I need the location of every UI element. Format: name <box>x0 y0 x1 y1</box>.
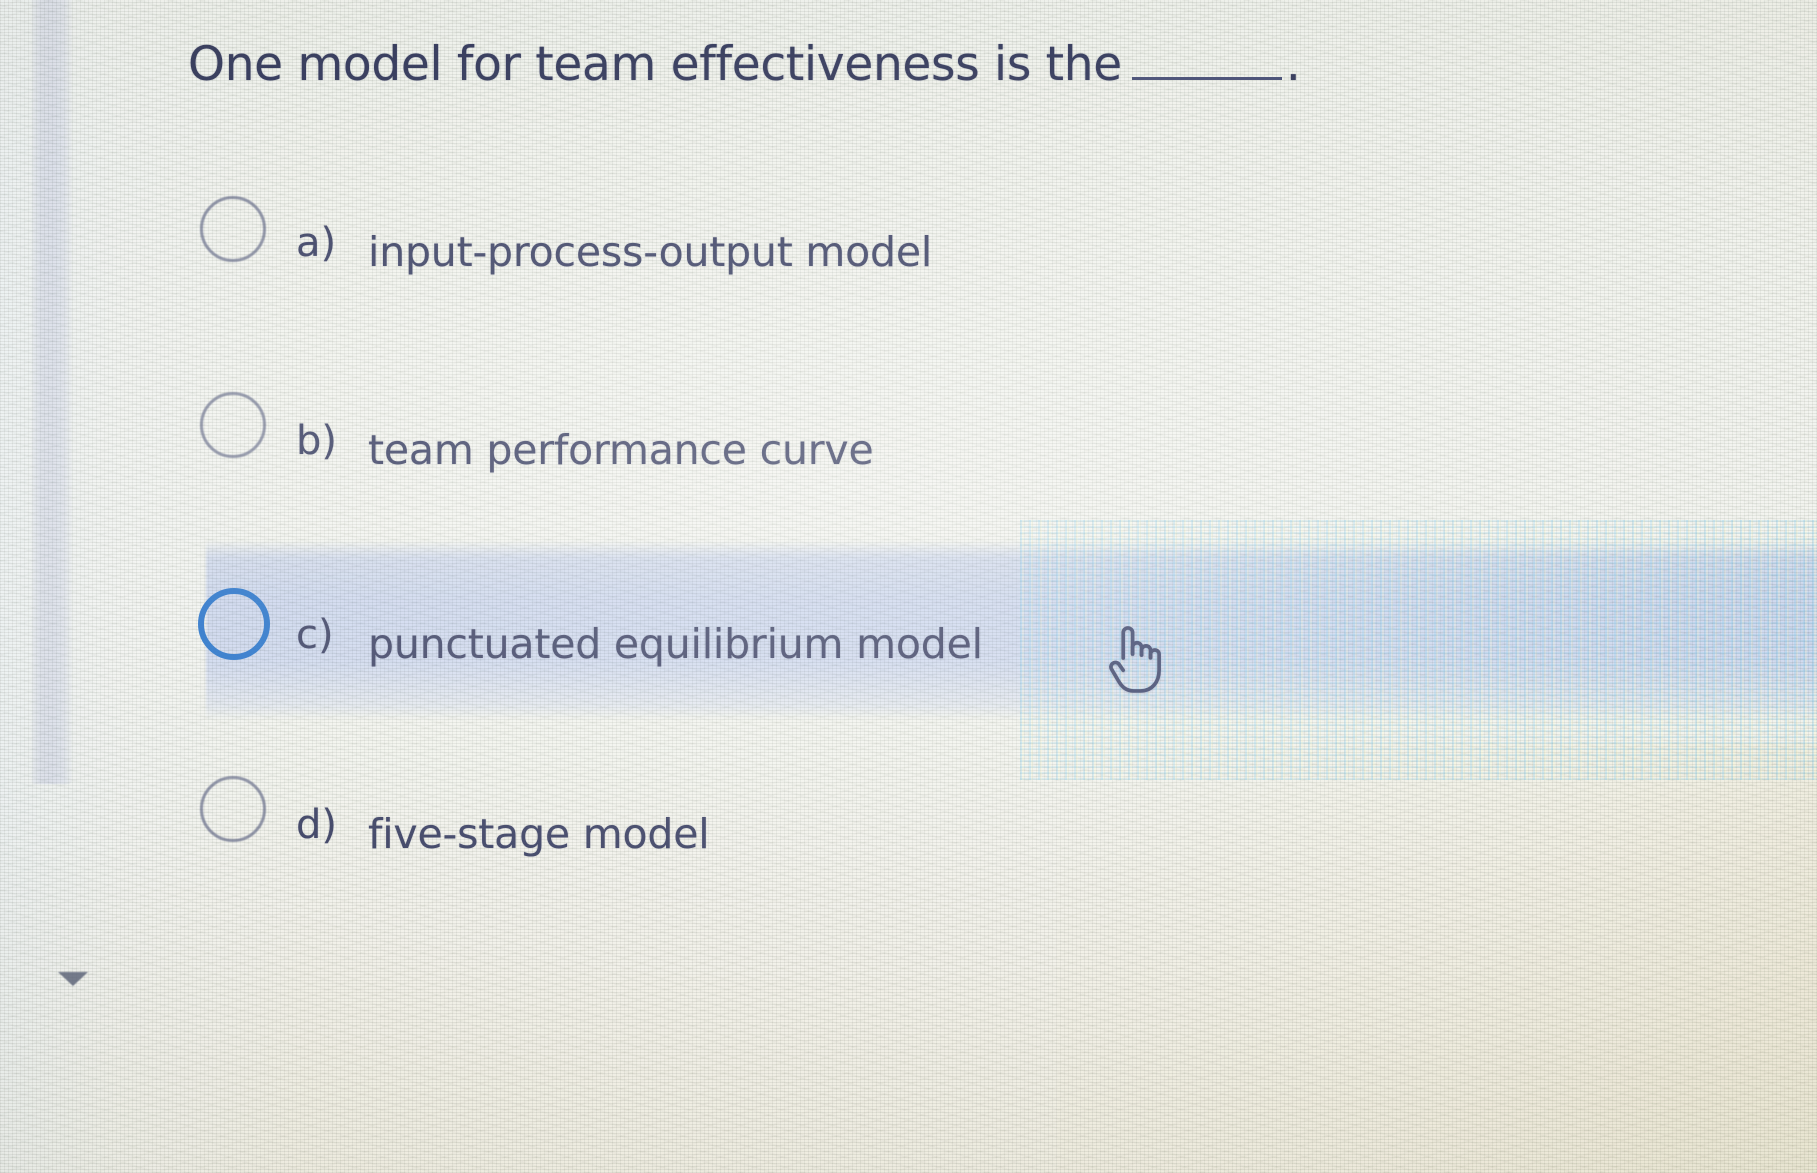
option-a-letter: a) <box>296 220 336 266</box>
scroll-down-arrow-icon[interactable] <box>58 972 88 986</box>
option-d-letter: d) <box>296 802 337 848</box>
question-blank <box>1132 43 1282 80</box>
radio-button-d[interactable] <box>200 776 266 842</box>
question-text: One model for team effectiveness is the. <box>188 38 1301 92</box>
question-suffix: . <box>1286 37 1301 92</box>
option-c-letter: c) <box>296 612 334 658</box>
option-d-label[interactable]: five-stage model <box>368 810 709 858</box>
option-b-label[interactable]: team performance curve <box>368 426 873 474</box>
option-c-label[interactable]: punctuated equilibrium model <box>368 620 983 668</box>
screen-photo: One model for team effectiveness is the.… <box>0 0 1817 1173</box>
hand-pointer-icon <box>1096 618 1168 696</box>
option-b-letter: b) <box>296 418 337 464</box>
option-row-b[interactable] <box>0 378 1817 498</box>
option-a-label[interactable]: input-process-output model <box>368 228 932 276</box>
option-row-d[interactable] <box>0 762 1817 882</box>
radio-button-c[interactable] <box>198 588 270 660</box>
radio-button-a[interactable] <box>200 196 266 262</box>
question-content: One model for team effectiveness is the.… <box>0 0 1817 1173</box>
question-prefix: One model for team effectiveness is the <box>188 37 1122 92</box>
radio-button-b[interactable] <box>200 392 266 458</box>
